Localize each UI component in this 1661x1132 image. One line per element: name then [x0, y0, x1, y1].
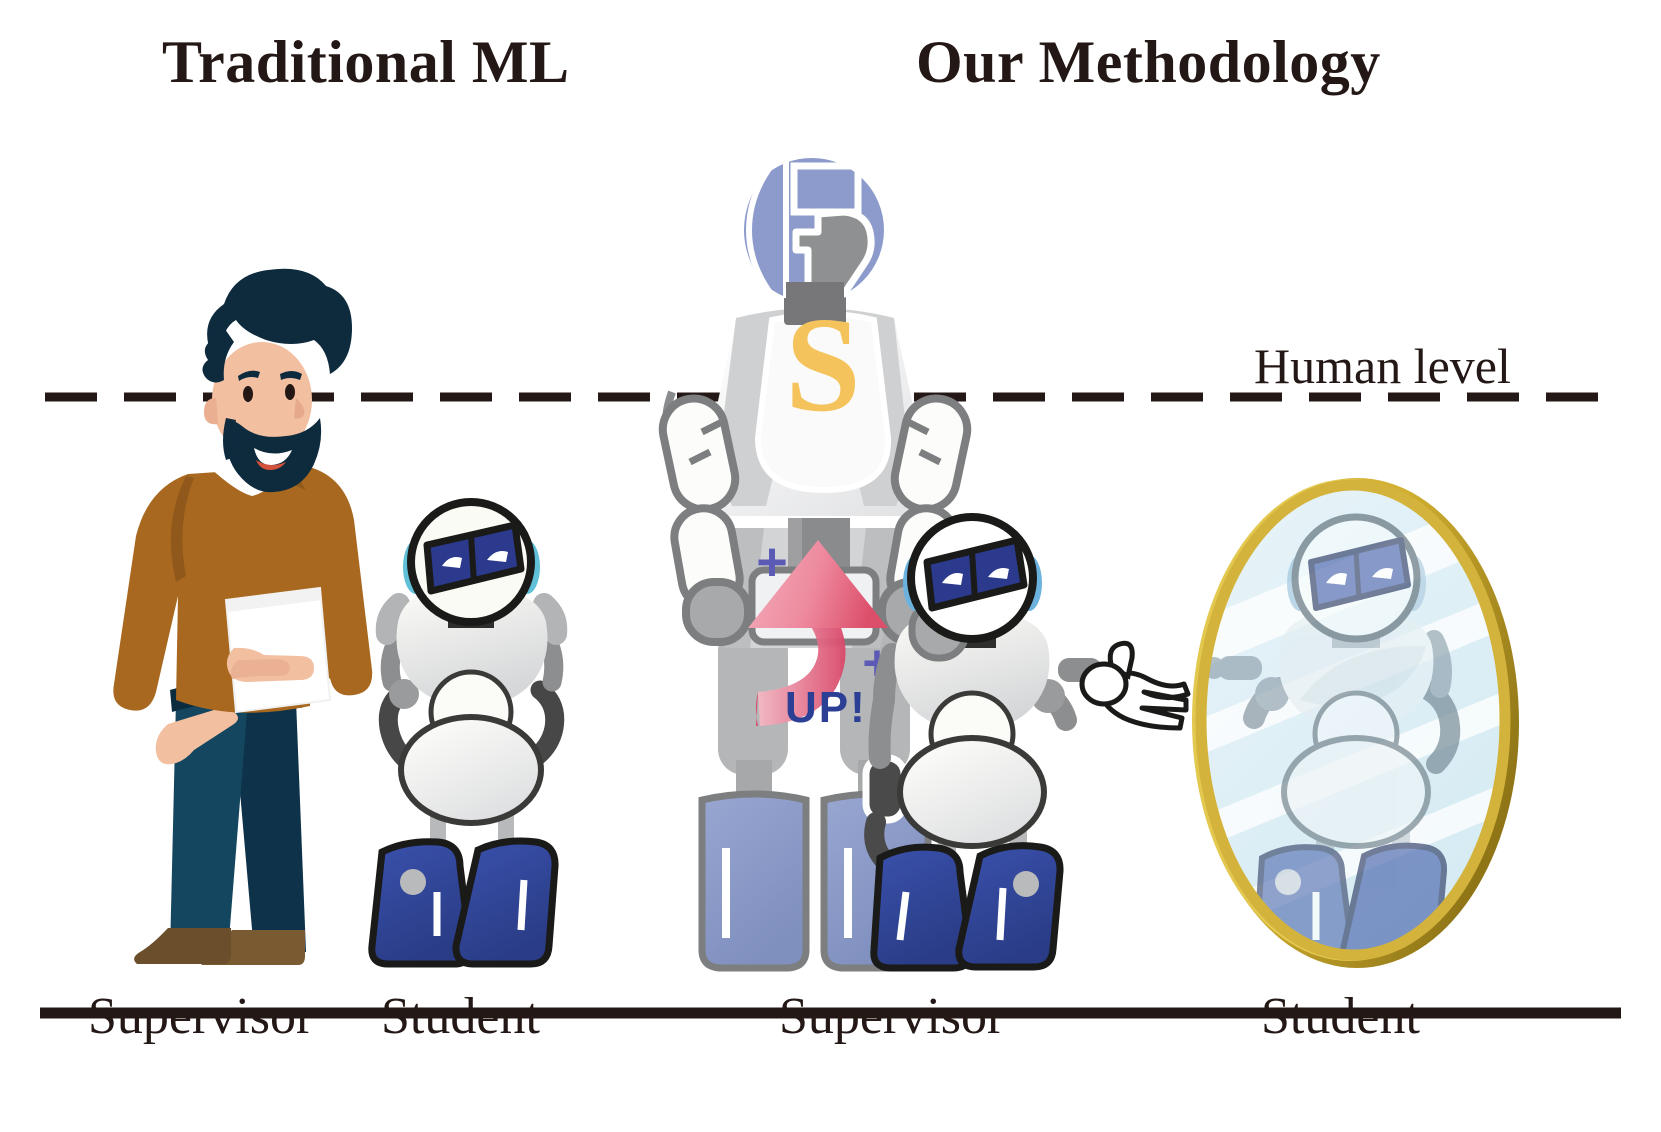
up-callout-text: UP!: [785, 683, 867, 732]
student-robot-middle: [866, 517, 1188, 968]
chest-logo-s: S: [785, 290, 861, 440]
figure-canvas: Traditional ML Our Methodology Human lev…: [0, 0, 1661, 1132]
mirror-with-reflection: [1150, 470, 1560, 968]
robot-hand-icon: [1082, 643, 1188, 728]
diagram-artwork: S + + UP!: [0, 0, 1661, 1132]
human-supervisor-figure: [113, 269, 372, 965]
plus-icon-left: +: [756, 532, 788, 592]
student-robot-left: [372, 502, 556, 964]
